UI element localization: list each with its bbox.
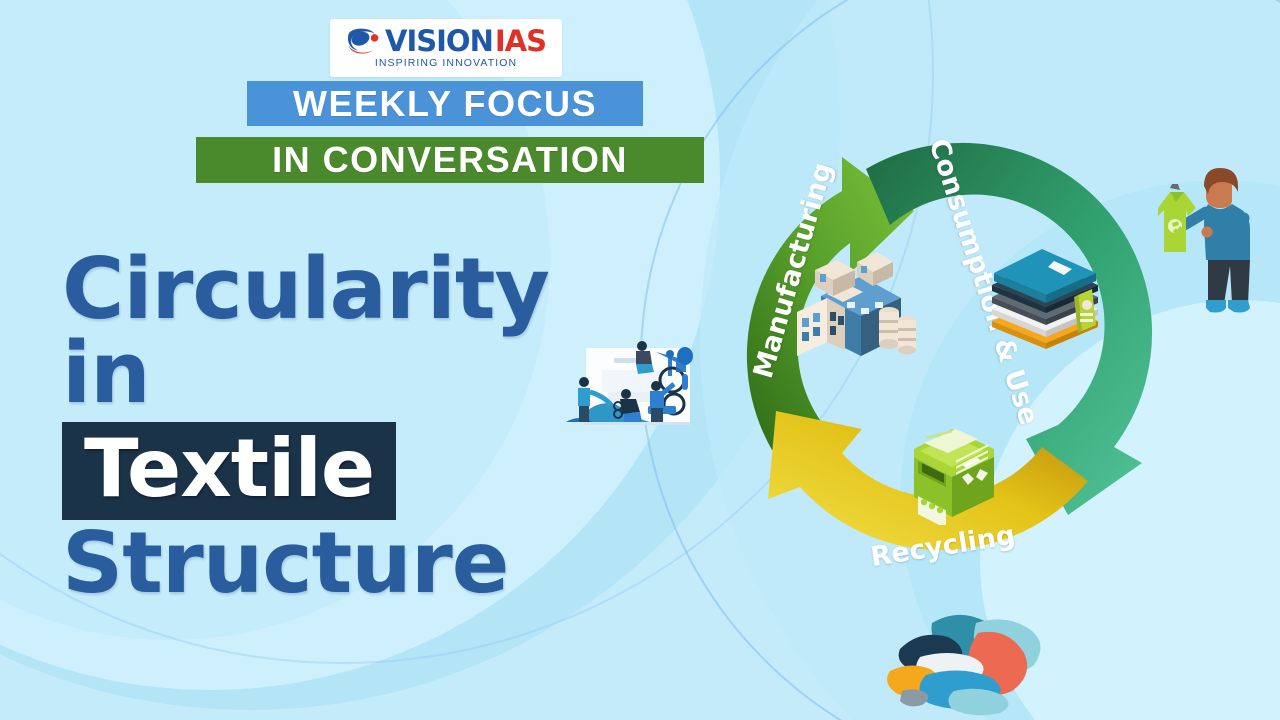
title-line-1: Circularity [62, 248, 662, 332]
title-line-3: Structure [62, 522, 662, 606]
vision-ias-swoosh-icon [346, 28, 380, 56]
logo-tagline: INSPIRING INNOVATION [375, 57, 517, 69]
badge-weekly-focus: WEEKLY FOCUS [247, 81, 643, 126]
title-highlight-wrap: Textile [62, 422, 396, 520]
factory-icon [785, 250, 925, 370]
badge-in-conversation: IN CONVERSATION [196, 137, 704, 183]
logo-text-ias: IAS [495, 27, 546, 56]
clothes-pile-icon [868, 605, 1058, 720]
title-highlight-textile: Textile [62, 422, 396, 520]
circular-economy-diagram: Manufacturing Consumption & Use Recyclin… [690, 95, 1220, 625]
shopper-with-tshirt-icon [1150, 160, 1265, 325]
recycling-bin-icon [900, 425, 1005, 525]
folded-clothes-icon [980, 243, 1110, 358]
slide-canvas: VISION IAS INSPIRING INNOVATION WEEKLY F… [0, 0, 1280, 720]
cycle-arrows [690, 95, 1220, 625]
vision-ias-logo: VISION IAS INSPIRING INNOVATION [330, 19, 562, 77]
logo-text-vision: VISION [385, 27, 493, 56]
